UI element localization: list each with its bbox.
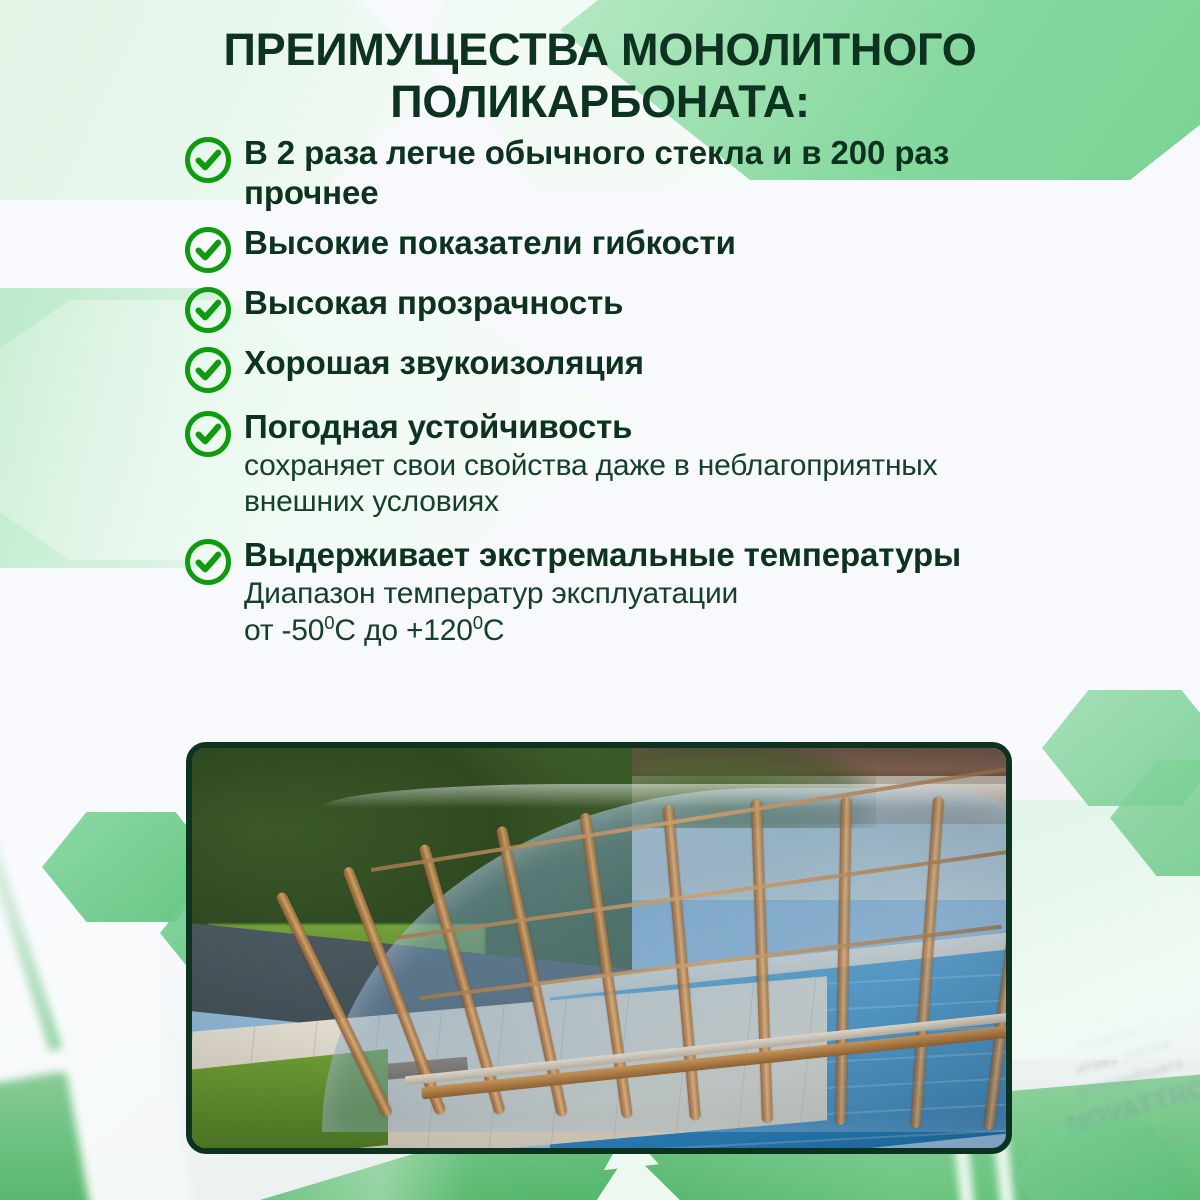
product-photo xyxy=(192,748,1006,1148)
list-item: Хорошая звукоизоляция xyxy=(182,342,992,394)
list-item: Высокая прозрачность xyxy=(182,282,992,334)
infographic-poster: аткие ендации по нтажу листов поликарбон… xyxy=(0,0,1200,1200)
list-item-body: В 2 раза легче обычного стекла и в 200 р… xyxy=(244,132,992,214)
check-circle-icon xyxy=(182,408,234,460)
temp-range-mid: С до +120 xyxy=(334,614,472,647)
title-line-1: ПРЕИМУЩЕСТВА МОНОЛИТНОГО xyxy=(140,24,1060,76)
benefits-list: В 2 раза легче обычного стекла и в 200 р… xyxy=(182,132,992,649)
poster-content: ПРЕИМУЩЕСТВА МОНОЛИТНОГО ПОЛИКАРБОНАТА: … xyxy=(0,0,1200,1200)
temp-range-end: С xyxy=(483,614,504,647)
list-item-headline: Хорошая звукоизоляция xyxy=(244,344,644,381)
temp-range-from: от -50 xyxy=(244,614,324,647)
list-item-body: Высокие показатели гибкости xyxy=(244,222,992,263)
list-item-headline: Высокая прозрачность xyxy=(244,284,623,321)
photo-vignette xyxy=(192,748,1006,1148)
list-item-body: Погодная устойчивость сохраняет свои сво… xyxy=(244,406,992,520)
list-item: Высокие показатели гибкости xyxy=(182,222,992,274)
list-item-headline: Погодная устойчивость xyxy=(244,407,992,447)
product-photo-frame xyxy=(186,742,1012,1154)
list-item-headline: В 2 раза легче обычного стекла и в 200 р… xyxy=(244,134,949,211)
title-line-2: ПОЛИКАРБОНАТА: xyxy=(140,76,1060,128)
list-item-body: Хорошая звукоизоляция xyxy=(244,342,992,383)
check-circle-icon xyxy=(182,134,234,186)
list-item-temperature-range: от -500С до +1200С xyxy=(244,613,992,649)
check-circle-icon xyxy=(182,224,234,276)
check-circle-icon xyxy=(182,284,234,336)
list-item-headline: Выдерживает экстремальные температуры xyxy=(244,535,992,575)
list-item-body: Выдерживает экстремальные температуры Ди… xyxy=(244,534,992,649)
list-item-headline: Высокие показатели гибкости xyxy=(244,224,736,261)
temp-degree-sup-2: 0 xyxy=(473,612,483,633)
list-item: В 2 раза легче обычного стекла и в 200 р… xyxy=(182,132,992,214)
check-circle-icon xyxy=(182,536,234,588)
list-item-body: Высокая прозрачность xyxy=(244,282,992,323)
page-title: ПРЕИМУЩЕСТВА МОНОЛИТНОГО ПОЛИКАРБОНАТА: xyxy=(140,24,1060,128)
list-item: Погодная устойчивость сохраняет свои сво… xyxy=(182,406,992,520)
list-item-subtext-prefix: Диапазон температур эксплуатации xyxy=(244,576,992,612)
list-item: Выдерживает экстремальные температуры Ди… xyxy=(182,534,992,649)
list-item-subtext: сохраняет свои свойства даже в неблагопр… xyxy=(244,448,992,520)
check-circle-icon xyxy=(182,344,234,396)
temp-degree-sup-1: 0 xyxy=(324,612,334,633)
